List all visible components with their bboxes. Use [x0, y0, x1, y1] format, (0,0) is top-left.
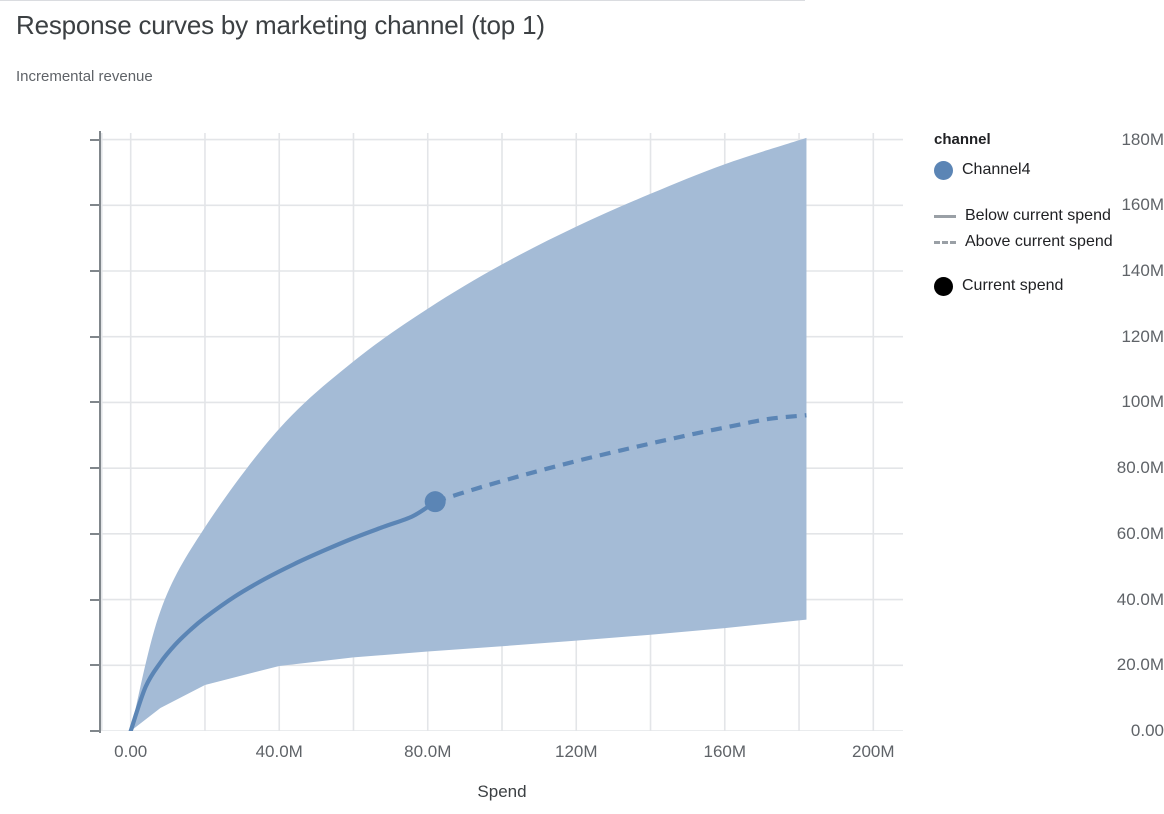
- legend-title: channel: [934, 131, 1164, 148]
- y-tick-label: 60.0M: [1086, 524, 1164, 544]
- y-tick-mark: [90, 730, 99, 732]
- y-tick-label: 80.0M: [1086, 458, 1164, 478]
- circle-icon: [934, 161, 953, 180]
- x-tick-label: 120M: [555, 742, 598, 762]
- y-tick-mark: [90, 336, 99, 338]
- y-tick-mark: [90, 401, 99, 403]
- response-curve-svg: [101, 133, 903, 731]
- chart-subtitle: Incremental revenue: [16, 68, 153, 85]
- confidence-band: [131, 138, 807, 731]
- current-spend-marker[interactable]: [425, 491, 446, 512]
- legend-item-current-spend[interactable]: Current spend: [934, 274, 1164, 298]
- y-tick-label: 120M: [1086, 327, 1164, 347]
- y-tick-label: 20.0M: [1086, 655, 1164, 675]
- x-tick-label: 80.0M: [404, 742, 451, 762]
- y-tick-mark: [90, 139, 99, 141]
- x-axis-line: [0, 0, 805, 1]
- legend-styles-group: Below current spendAbove current spend: [934, 204, 1164, 254]
- legend-points-group: Current spend: [934, 274, 1164, 298]
- legend-item-label: Channel4: [962, 161, 1031, 179]
- y-tick-label: 40.0M: [1086, 590, 1164, 610]
- dashed-line-icon: [934, 241, 956, 244]
- legend-item-label: Current spend: [962, 277, 1063, 295]
- legend-item-channel[interactable]: Channel4: [934, 158, 1164, 182]
- y-tick-mark: [90, 533, 99, 535]
- x-tick-label: 160M: [704, 742, 747, 762]
- legend-series-group: Channel4: [934, 158, 1164, 182]
- x-tick-label: 40.0M: [256, 742, 303, 762]
- solid-line-icon: [934, 215, 956, 218]
- y-tick-label: 100M: [1086, 392, 1164, 412]
- x-axis-title: Spend: [0, 782, 1004, 802]
- chart-page: Response curves by marketing channel (to…: [0, 0, 1164, 814]
- page-title: Response curves by marketing channel (to…: [16, 10, 545, 41]
- legend: channel Channel4 Below current spendAbov…: [934, 131, 1164, 300]
- legend-item-label: Below current spend: [965, 207, 1111, 225]
- legend-item-style[interactable]: Below current spend: [934, 204, 1164, 228]
- y-tick-mark: [90, 599, 99, 601]
- plot-area[interactable]: [101, 133, 903, 731]
- x-tick-label: 0.00: [114, 742, 147, 762]
- y-tick-mark: [90, 270, 99, 272]
- y-tick-mark: [90, 204, 99, 206]
- y-tick-label: 0.00: [1086, 721, 1164, 741]
- y-tick-mark: [90, 467, 99, 469]
- x-tick-label: 200M: [852, 742, 895, 762]
- y-tick-mark: [90, 664, 99, 666]
- legend-item-label: Above current spend: [965, 233, 1113, 251]
- filled-circle-icon: [934, 277, 953, 296]
- legend-item-style[interactable]: Above current spend: [934, 230, 1164, 254]
